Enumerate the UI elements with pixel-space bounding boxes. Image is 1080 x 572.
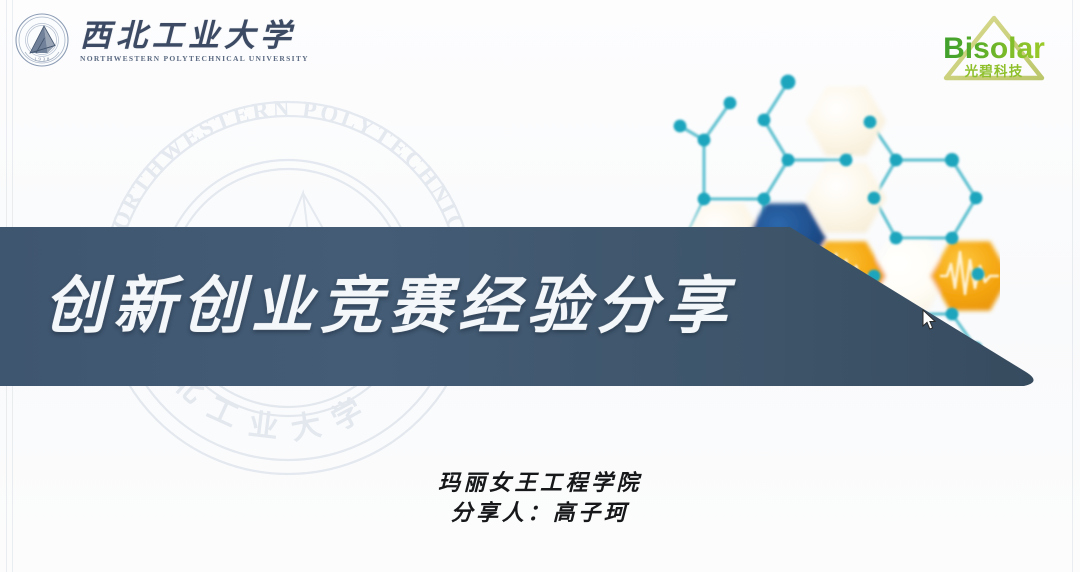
presentation-slide: NORTHWESTERN POLYTECHNICAL UNIVE 西北工业大学 … [0,0,1080,572]
nwpu-logo-english-name: NORTHWESTERN POLYTECHNICAL UNIVERSITY [80,54,309,64]
svg-text:1 9 3 8: 1 9 3 8 [34,57,50,62]
page-title: 创新创业竞赛经验分享 [44,268,804,346]
nwpu-logo-chinese-name: 西北工业大学 [80,19,304,53]
credit-presenter: 分享人：高子珂 [0,498,1080,528]
mouse-cursor [922,309,938,331]
credit-college: 玛丽女王工程学院 [0,468,1080,498]
nwpu-seal-icon: 1 9 3 8 [14,12,70,68]
arrow-cursor-icon [922,309,938,331]
credits-block: 玛丽女王工程学院 分享人：高子珂 [0,468,1080,528]
nwpu-logo: 1 9 3 8 西北工业大学 NORTHWESTERN POLYTECHNICA… [14,8,304,72]
